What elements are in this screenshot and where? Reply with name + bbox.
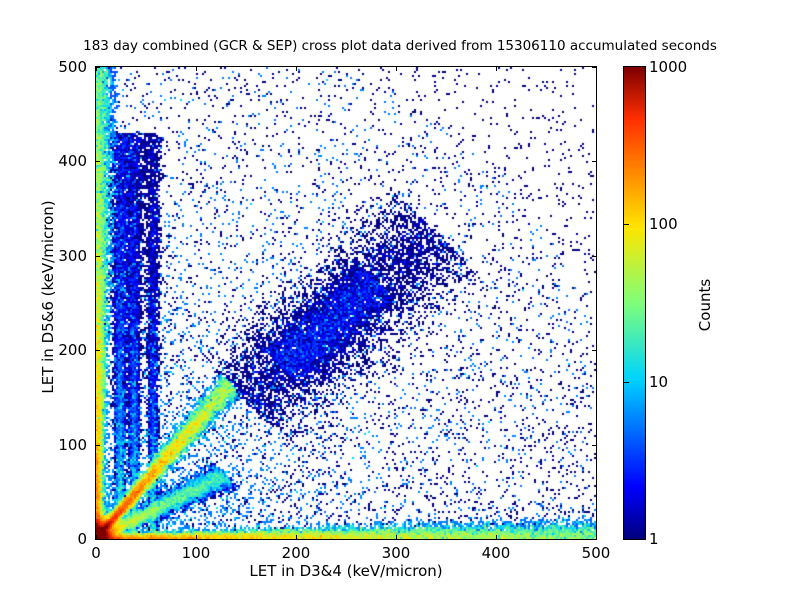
x-tick-label: 400 xyxy=(482,544,511,562)
y-tick-mark xyxy=(96,161,100,162)
y-tick-mark-right xyxy=(592,350,596,351)
colorbar-tick-label: 100 xyxy=(649,215,678,233)
y-tick-label: 0 xyxy=(33,530,87,548)
x-tick-label: 0 xyxy=(91,544,101,562)
colorbar-tick-label: 1000 xyxy=(649,58,687,76)
colorbar-tick-mark xyxy=(624,382,629,383)
x-tick-label: 200 xyxy=(282,544,311,562)
colorbar-tick-label: 1 xyxy=(649,530,659,548)
colorbar-tick-label: 10 xyxy=(649,373,668,391)
colorbar-tick-mark xyxy=(624,224,629,225)
x-tick-label: 100 xyxy=(182,544,211,562)
x-tick-mark xyxy=(596,535,597,539)
figure-canvas: 183 day combined (GCR & SEP) cross plot … xyxy=(0,0,800,600)
colorbar-gradient xyxy=(624,67,645,539)
colorbar-label: Counts xyxy=(696,195,714,415)
x-tick-mark-top xyxy=(196,67,197,71)
y-tick-mark-right xyxy=(592,256,596,257)
x-tick-label: 500 xyxy=(582,544,611,562)
x-tick-mark xyxy=(396,535,397,539)
x-tick-mark xyxy=(496,535,497,539)
colorbar xyxy=(623,66,646,540)
heatmap-scatter-canvas xyxy=(96,67,596,539)
x-tick-mark-top xyxy=(296,67,297,71)
title-line-1: 183 day combined (GCR & SEP) cross plot … xyxy=(0,38,800,55)
x-tick-label: 300 xyxy=(382,544,411,562)
y-tick-mark xyxy=(96,445,100,446)
y-tick-mark-right xyxy=(592,67,596,68)
y-tick-mark-right xyxy=(592,445,596,446)
y-tick-label: 500 xyxy=(33,58,87,76)
y-tick-mark xyxy=(96,350,100,351)
x-tick-mark xyxy=(296,535,297,539)
x-tick-mark-top xyxy=(496,67,497,71)
y-tick-mark xyxy=(96,256,100,257)
y-axis-label: LET in D5&6 (keV/micron) xyxy=(39,127,57,467)
y-tick-mark-right xyxy=(592,539,596,540)
plot-area xyxy=(95,66,597,540)
y-tick-mark-right xyxy=(592,161,596,162)
y-tick-mark xyxy=(96,67,100,68)
x-tick-mark xyxy=(196,535,197,539)
x-axis-label: LET in D3&4 (keV/micron) xyxy=(95,562,597,580)
x-tick-mark-top xyxy=(396,67,397,71)
x-tick-mark-top xyxy=(596,67,597,71)
y-tick-mark xyxy=(96,539,100,540)
